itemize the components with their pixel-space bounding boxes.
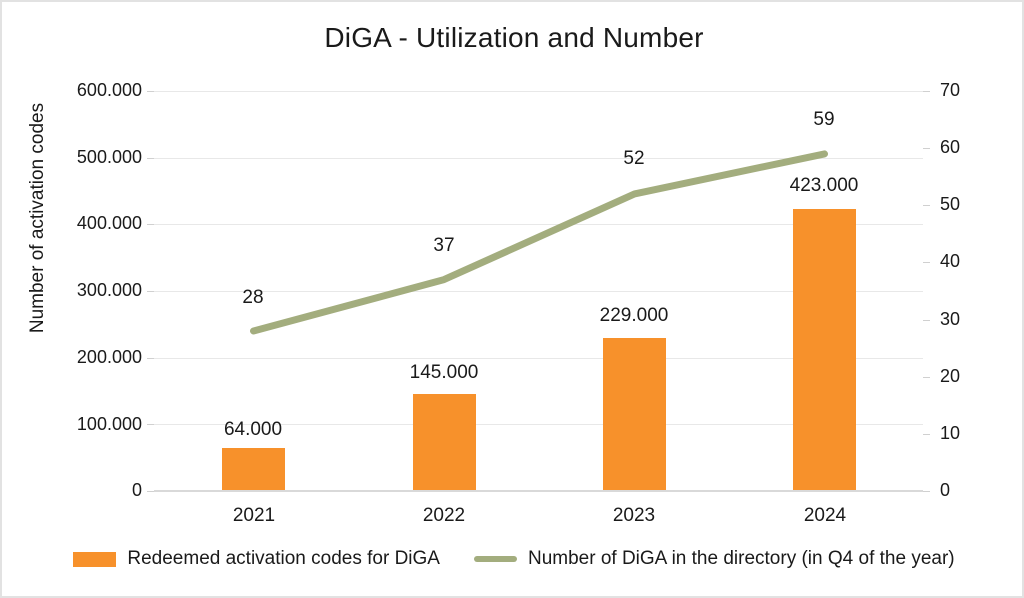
left-tickmark: [147, 358, 154, 359]
line-value-label-2021: 28: [193, 287, 313, 309]
legend-label-activation-codes: Redeemed activation codes for DiGA: [127, 548, 440, 570]
right-tickmark: [923, 91, 930, 92]
bar-value-label-2023: 229.000: [564, 305, 704, 327]
left-axis-tick-400000: 400.000: [32, 213, 142, 234]
right-axis-tick-60: 60: [940, 137, 986, 158]
left-tickmark: [147, 424, 154, 425]
bar-value-label-2024: 423.000: [754, 175, 894, 197]
left-tickmark: [147, 224, 154, 225]
bar-swatch-icon: [73, 552, 116, 567]
x-axis-tick-2024: 2024: [745, 505, 905, 527]
right-tickmark: [923, 491, 930, 492]
left-tickmark: [147, 91, 154, 92]
right-axis-tick-20: 20: [940, 366, 986, 387]
right-axis-tick-30: 30: [940, 309, 986, 330]
chart-container: DiGA - Utilization and Number Number of …: [0, 0, 1024, 598]
bar-value-label-2021: 64.000: [183, 419, 323, 441]
right-tickmark: [923, 148, 930, 149]
x-axis-tick-2021: 2021: [174, 505, 334, 527]
legend-item-activation-codes[interactable]: Redeemed activation codes for DiGA: [73, 548, 440, 570]
line-value-label-2022: 37: [384, 235, 504, 257]
legend-label-diga-directory: Number of DiGA in the directory (in Q4 o…: [528, 548, 955, 570]
bar-value-label-2022: 145.000: [374, 362, 514, 384]
line-value-label-2024: 59: [764, 109, 884, 131]
right-axis-tick-10: 10: [940, 423, 986, 444]
legend: Redeemed activation codes for DiGA Numbe…: [2, 548, 1024, 570]
x-axis-tick-2022: 2022: [364, 505, 524, 527]
x-axis-line: [154, 490, 923, 492]
right-axis-tick-0: 0: [940, 480, 986, 501]
right-tickmark: [923, 262, 930, 263]
left-axis-tick-200000: 200.000: [32, 347, 142, 368]
left-tickmark: [147, 491, 154, 492]
right-axis-tick-70: 70: [940, 80, 986, 101]
left-axis-tick-600000: 600.000: [32, 80, 142, 101]
line-swatch-icon: [474, 556, 517, 562]
left-axis-tick-300000: 300.000: [32, 280, 142, 301]
left-tickmark: [147, 291, 154, 292]
right-axis-tick-50: 50: [940, 194, 986, 215]
line-value-label-2023: 52: [574, 148, 694, 170]
left-axis-tick-0: 0: [32, 480, 142, 501]
right-tickmark: [923, 377, 930, 378]
diga-directory-line: [254, 154, 825, 331]
chart-title: DiGA - Utilization and Number: [2, 22, 1024, 54]
x-axis-tick-2023: 2023: [554, 505, 714, 527]
right-tickmark: [923, 320, 930, 321]
left-axis-tick-500000: 500.000: [32, 147, 142, 168]
right-tickmark: [923, 205, 930, 206]
right-tickmark: [923, 434, 930, 435]
right-axis-tick-40: 40: [940, 251, 986, 272]
legend-item-diga-directory[interactable]: Number of DiGA in the directory (in Q4 o…: [474, 548, 955, 570]
left-axis-tick-100000: 100.000: [32, 414, 142, 435]
left-tickmark: [147, 158, 154, 159]
